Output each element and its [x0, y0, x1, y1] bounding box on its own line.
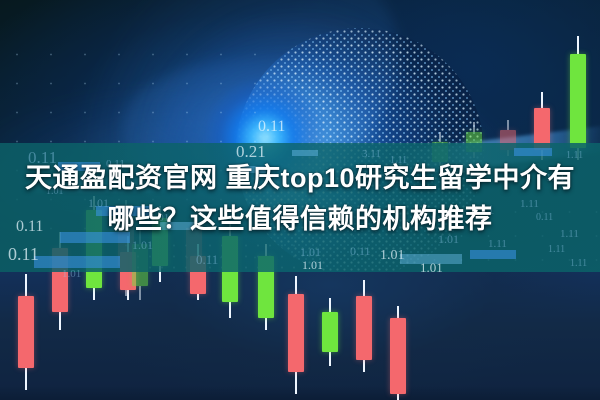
candle-body	[390, 318, 406, 394]
page-title-line-1: 天通盈配资官网 重庆top10研究生留学中介有	[14, 158, 586, 199]
candlestick-13	[356, 280, 372, 372]
candle-body	[288, 294, 304, 372]
candlestick-1	[18, 274, 34, 390]
candle-body	[322, 312, 338, 352]
page-title: 天通盈配资官网 重庆top10研究生留学中介有 哪些？这些值得信赖的机构推荐	[0, 158, 600, 240]
candlestick-12	[322, 298, 338, 366]
candlestick-19	[570, 36, 586, 160]
candlestick-11	[288, 276, 304, 394]
candle-body	[18, 296, 34, 368]
candlestick-14	[390, 306, 406, 400]
banner-image: 0.111.010.111.010.111.011.010.110.213.11…	[0, 0, 600, 400]
candle-body	[356, 296, 372, 360]
candle-body	[570, 54, 586, 148]
page-title-line-2: 哪些？这些值得信赖的机构推荐	[14, 199, 586, 240]
